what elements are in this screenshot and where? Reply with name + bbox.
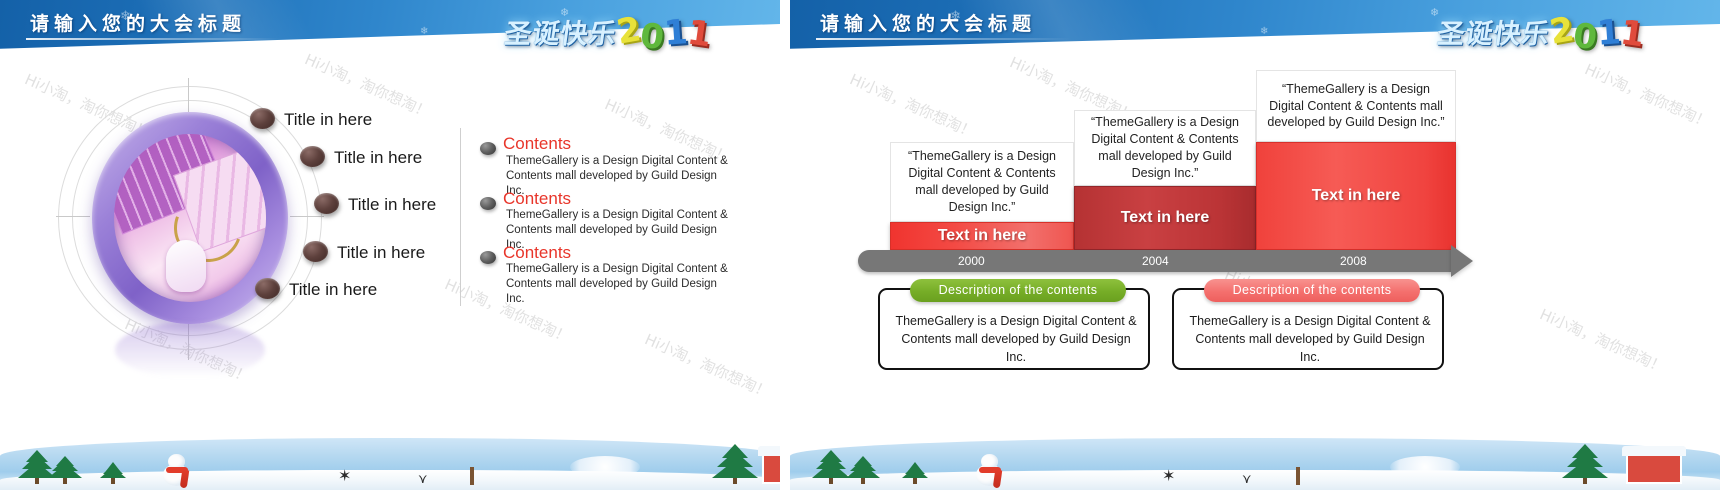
contents-divider [460, 128, 461, 306]
snowflake-icon: ❄ [1260, 26, 1268, 37]
title-bullet-icon [314, 193, 339, 214]
bare-shrub-icon: ✶ [338, 469, 351, 485]
contents-heading-3: Contents [503, 243, 571, 263]
description-box-1: Description of the contents ThemeGallery… [878, 288, 1150, 370]
contents-heading-1: Contents [503, 134, 571, 154]
slide-1: ❄ ❄ ❄ 请输入您的大会标题 圣诞快乐 2011 Hi小淘，淘你想淘！ Hi小… [0, 0, 780, 490]
snowman-scarf [979, 467, 1001, 473]
title-label-4: Title in here [337, 243, 425, 263]
title-bullet-icon [250, 108, 275, 129]
bar-callout-2008: “ThemeGallery is a Design Digital Conten… [1256, 70, 1456, 142]
title-label-2: Title in here [334, 148, 422, 168]
fence-post [1296, 467, 1300, 485]
snowman-icon [163, 454, 189, 486]
slide-2: ❄ ❄ ❄ 请输入您的大会标题 圣诞快乐 2011 Hi小淘，淘你想淘！ Hi小… [790, 0, 1720, 490]
bar-callout-2004: “ThemeGallery is a Design Digital Conten… [1074, 110, 1256, 186]
description-box-2: Description of the contents ThemeGallery… [1172, 288, 1444, 370]
timeline-arrow-head [1451, 245, 1473, 277]
contents-heading-2: Contents [503, 189, 571, 209]
bar-2004[interactable]: Text in here [1074, 186, 1256, 250]
description-pill-1: Description of the contents [910, 279, 1126, 302]
year-digit-1: 0 [638, 19, 665, 55]
page-title: 请输入您的大会标题 [820, 9, 1036, 36]
contents-body-3: ThemeGallery is a Design Digital Content… [506, 262, 734, 308]
contents-bullet-icon [480, 197, 496, 210]
pine-tree-icon [902, 462, 928, 484]
bar-2000[interactable]: Text in here [890, 222, 1074, 250]
pine-tree-icon [1562, 444, 1608, 484]
page-title: 请输入您的大会标题 [30, 9, 246, 36]
watermark: Hi小淘，淘你想淘！ [642, 328, 774, 402]
mouse-image [166, 240, 206, 292]
year-digit-1: 0 [1571, 19, 1598, 55]
title-underline [26, 38, 281, 40]
snowman-scarf [166, 467, 188, 473]
slide-1-header: ❄ ❄ ❄ 请输入您的大会标题 圣诞快乐 2011 [0, 0, 780, 62]
bare-branch-icon: ⋎ [1242, 472, 1252, 485]
house-icon [762, 454, 780, 484]
year-label-2008: 2008 [1340, 254, 1367, 268]
year-digit-3: 1 [685, 15, 713, 52]
pine-tree-icon [846, 456, 880, 484]
crosshair-left [56, 216, 90, 217]
crosshair-top [188, 78, 189, 112]
year-digit-3: 1 [1618, 15, 1646, 52]
year-2011: 2011 [617, 14, 712, 48]
slide-deck-preview: ❄ ❄ ❄ 请输入您的大会标题 圣诞快乐 2011 Hi小淘，淘你想淘！ Hi小… [0, 0, 1720, 490]
description-pill-2: Description of the contents [1204, 279, 1420, 302]
globe-photo [114, 134, 266, 302]
watermark: Hi小淘，淘你想淘！ [1537, 303, 1669, 377]
christmas-logo: 圣诞快乐 2011 [1438, 2, 1645, 60]
winter-scene: ✶ ⋎ [790, 420, 1720, 490]
pine-tree-icon [48, 456, 82, 484]
snowman-icon [976, 454, 1002, 486]
christmas-logo: 圣诞快乐 2011 [505, 2, 712, 60]
title-bullet-icon [300, 146, 325, 167]
pine-tree-icon [100, 462, 126, 484]
description-body-1: ThemeGallery is a Design Digital Content… [892, 312, 1140, 366]
pine-tree-icon [812, 450, 850, 484]
fence-post [470, 467, 474, 485]
title-underline [816, 38, 1071, 40]
description-body-2: ThemeGallery is a Design Digital Content… [1186, 312, 1434, 366]
house-icon [1626, 454, 1682, 484]
watermark: Hi小淘，淘你想淘！ [1582, 58, 1714, 132]
winter-scene: ✶ ⋎ [0, 420, 780, 490]
year-label-2004: 2004 [1142, 254, 1169, 268]
bare-branch-icon: ⋎ [418, 472, 428, 485]
christmas-greeting: 圣诞快乐 [1435, 12, 1552, 51]
slide-gutter [780, 0, 790, 490]
pine-tree-icon [712, 444, 758, 484]
year-label-2000: 2000 [958, 254, 985, 268]
title-bullet-icon [303, 241, 328, 262]
title-label-1: Title in here [284, 110, 372, 130]
title-label-3: Title in here [348, 195, 436, 215]
crosshair-right [290, 216, 324, 217]
slide-2-header: ❄ ❄ ❄ 请输入您的大会标题 圣诞快乐 2011 [790, 0, 1720, 62]
christmas-greeting: 圣诞快乐 [502, 12, 619, 51]
watermark: Hi小淘，淘你想淘！ [847, 68, 979, 142]
contents-bullet-icon [480, 142, 496, 155]
bare-shrub-icon: ✶ [1162, 469, 1175, 485]
title-label-5: Title in here [289, 280, 377, 300]
globe-reflection [115, 322, 265, 378]
bar-2008[interactable]: Text in here [1256, 142, 1456, 250]
bar-callout-2000: “ThemeGallery is a Design Digital Conten… [890, 142, 1074, 222]
year-2011: 2011 [1550, 14, 1645, 48]
contents-bullet-icon [480, 251, 496, 264]
title-bullet-icon [255, 278, 280, 299]
